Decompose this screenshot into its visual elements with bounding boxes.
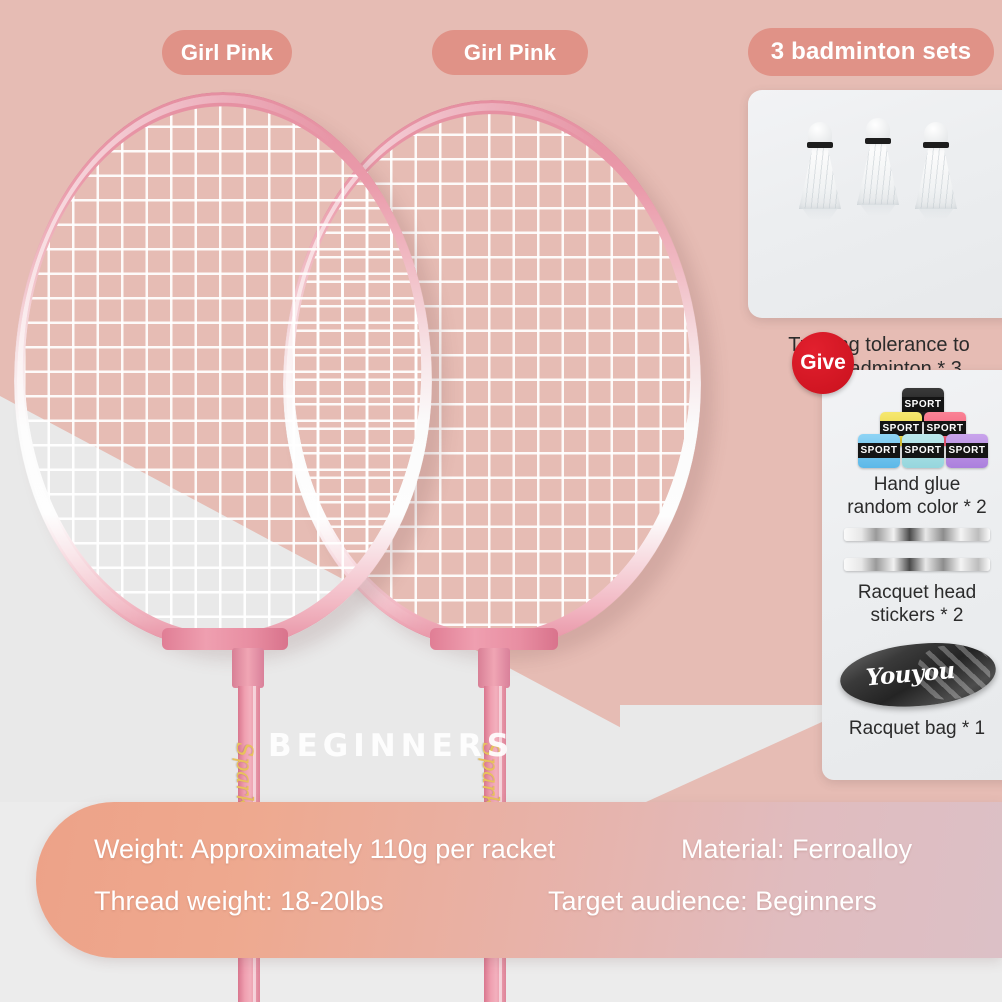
racquet-head-sticker-icon (844, 528, 990, 541)
racquet-head-sticker-icon (844, 558, 990, 571)
hand-glue-caption-line1: Hand glue (822, 474, 1002, 497)
spec-banner: Weight: Approximately 110g per racket Ma… (36, 802, 1002, 958)
racket-back-throat (430, 628, 558, 650)
beginners-watermark: BEGINNERS (268, 728, 514, 764)
badge-girl-pink-left: Girl Pink (162, 30, 292, 75)
racket-front-collar (232, 648, 264, 688)
racket-front-throat (162, 628, 288, 650)
badge-badminton-sets: 3 badminton sets (748, 28, 994, 76)
racquet-bag-icon: Youyou (838, 637, 999, 712)
accessories-panel: SPORT SPORT SPORT SPORT SPORT SPORT Hand… (822, 370, 1002, 780)
spec-material: Material: Ferroalloy (681, 834, 912, 865)
racket-front-rim-highlight (17, 95, 429, 645)
hand-glue-caption: Hand glue random color * 2 (822, 474, 1002, 520)
shuttlecock-icon (796, 122, 844, 214)
bag-caption-line1: Racquet bag * 1 (822, 718, 1002, 741)
racket-back-collar (478, 648, 510, 688)
grip-tape-stack-icon: SPORT SPORT SPORT SPORT SPORT SPORT (858, 388, 988, 466)
spec-weight: Weight: Approximately 110g per racket (94, 834, 555, 865)
spec-target-audience: Target audience: Beginners (548, 886, 877, 917)
hand-glue-caption-line2: random color * 2 (822, 497, 1002, 520)
shuttlecock-icon (854, 118, 902, 210)
sticker-caption-line1: Racquet head (822, 582, 1002, 605)
shuttlecock-caption-line1: Training tolerance to (748, 334, 1002, 358)
give-badge: Give (792, 332, 854, 394)
bag-caption: Racquet bag * 1 (822, 718, 1002, 741)
shuttlecock-panel: Training tolerance to play badminton * 3 (748, 90, 1002, 318)
badge-girl-pink-middle: Girl Pink (432, 30, 588, 75)
product-image-canvas: Sparkle Sparkle BEGINNERS Girl Pink Girl… (0, 0, 1002, 1002)
sticker-caption: Racquet head stickers * 2 (822, 582, 1002, 628)
sticker-caption-line2: stickers * 2 (822, 605, 1002, 628)
spec-thread-weight: Thread weight: 18-20lbs (94, 886, 384, 917)
racket-front-head (14, 92, 432, 648)
shuttlecock-icon (912, 122, 960, 214)
